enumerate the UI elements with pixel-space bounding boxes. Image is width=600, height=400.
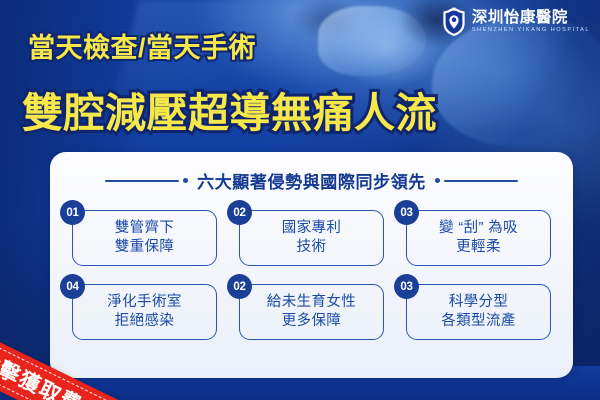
feature-card-grid: 01 雙管齊下 雙重保障 02 國家專利 技術 03 變 “刮” 為吸 更輕柔 … <box>50 210 573 340</box>
divider-right <box>435 178 518 183</box>
feature-card[interactable]: 01 雙管齊下 雙重保障 <box>72 210 217 266</box>
logo-name-en: SHENZHEN YIKANG HOSPITAL <box>472 28 590 34</box>
feature-card[interactable]: 02 給未生育女性 更多保障 <box>239 284 384 340</box>
logo-text-block: 深圳怡康醫院 SHENZHEN YIKANG HOSPITAL <box>472 10 590 33</box>
card-number-badge: 01 <box>60 200 85 225</box>
card-line-1: 雙管齊下 <box>115 219 175 238</box>
feature-card[interactable]: 04 淨化手術室 拒絕感染 <box>72 284 217 340</box>
card-line-2: 更多保障 <box>282 312 342 331</box>
logo-name-cn: 深圳怡康醫院 <box>472 10 590 26</box>
promo-banner: 深圳怡康醫院 SHENZHEN YIKANG HOSPITAL 當天檢查/當天手… <box>0 0 600 400</box>
divider-bar <box>444 180 518 182</box>
feature-card[interactable]: 02 國家專利 技術 <box>239 210 384 266</box>
divider-left <box>105 178 188 183</box>
card-line-1: 變 “刮” 為吸 <box>439 219 518 238</box>
hospital-logo: 深圳怡康醫院 SHENZHEN YIKANG HOSPITAL <box>441 7 590 37</box>
card-number-badge: 03 <box>394 274 419 299</box>
panel-heading: 六大顯著侵勢與國際同步領先 <box>50 168 573 193</box>
features-panel: 六大顯著侵勢與國際同步領先 01 雙管齊下 雙重保障 02 國家專利 技術 03… <box>50 152 573 378</box>
card-number-badge: 04 <box>60 274 85 299</box>
card-line-1: 淨化手術室 <box>107 293 182 312</box>
card-line-2: 更輕柔 <box>456 238 501 257</box>
card-line-2: 技術 <box>297 238 327 257</box>
headline-main: 雙腔減壓超導無痛人流 <box>22 79 437 139</box>
card-line-1: 科學分型 <box>449 293 509 312</box>
feature-card[interactable]: 03 變 “刮” 為吸 更輕柔 <box>406 210 551 266</box>
hospital-shield-icon <box>441 7 467 37</box>
card-number-badge: 03 <box>394 200 419 225</box>
card-number-badge: 02 <box>227 274 252 299</box>
divider-dot <box>183 178 188 183</box>
headline-sub: 當天檢查/當天手術 <box>28 26 256 65</box>
feature-card[interactable]: 03 科學分型 各類型流產 <box>406 284 551 340</box>
divider-dot <box>435 178 440 183</box>
card-line-2: 雙重保障 <box>115 238 175 257</box>
divider-bar <box>105 180 179 182</box>
card-line-2: 各類型流產 <box>441 312 516 331</box>
panel-title: 六大顯著侵勢與國際同步領先 <box>197 168 426 193</box>
card-line-1: 給未生育女性 <box>267 293 356 312</box>
card-number-badge: 02 <box>227 200 252 225</box>
card-line-2: 拒絕感染 <box>115 312 175 331</box>
card-line-1: 國家專利 <box>282 219 342 238</box>
